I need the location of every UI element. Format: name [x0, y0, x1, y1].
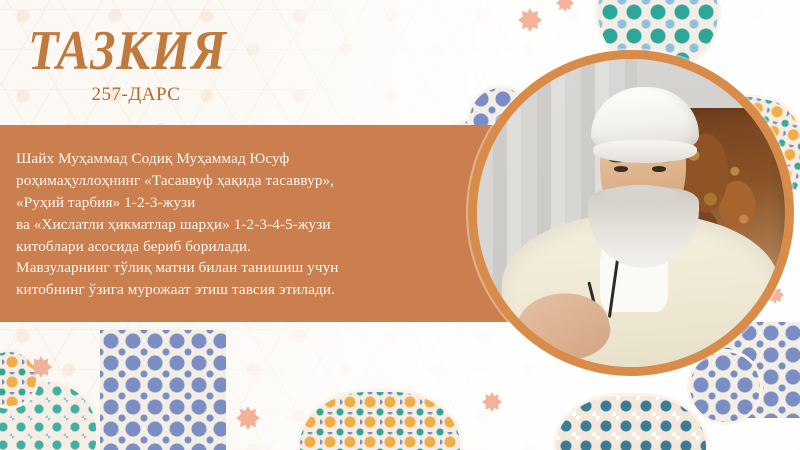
- photo-eye-left: [614, 166, 628, 172]
- lesson-number-subtitle: 257-ДАРС: [54, 84, 218, 106]
- poster-root: ТАЗКИЯ 257-ДАРС Шайх Муҳаммад Содиқ Муҳа…: [0, 0, 800, 450]
- page-title: ТАЗКИЯ: [28, 22, 218, 78]
- description-text: Шайх Муҳаммад Содиқ Муҳаммад Юсуф роҳима…: [16, 148, 456, 301]
- title-block: ТАЗКИЯ 257-ДАРС: [28, 22, 218, 106]
- tile-blue-quatrefoil-bottom: [100, 330, 226, 450]
- portrait-frame: [468, 50, 794, 376]
- portrait-photo: [477, 59, 785, 367]
- photo-eye-right: [652, 166, 666, 172]
- photo-moustache: [603, 185, 677, 203]
